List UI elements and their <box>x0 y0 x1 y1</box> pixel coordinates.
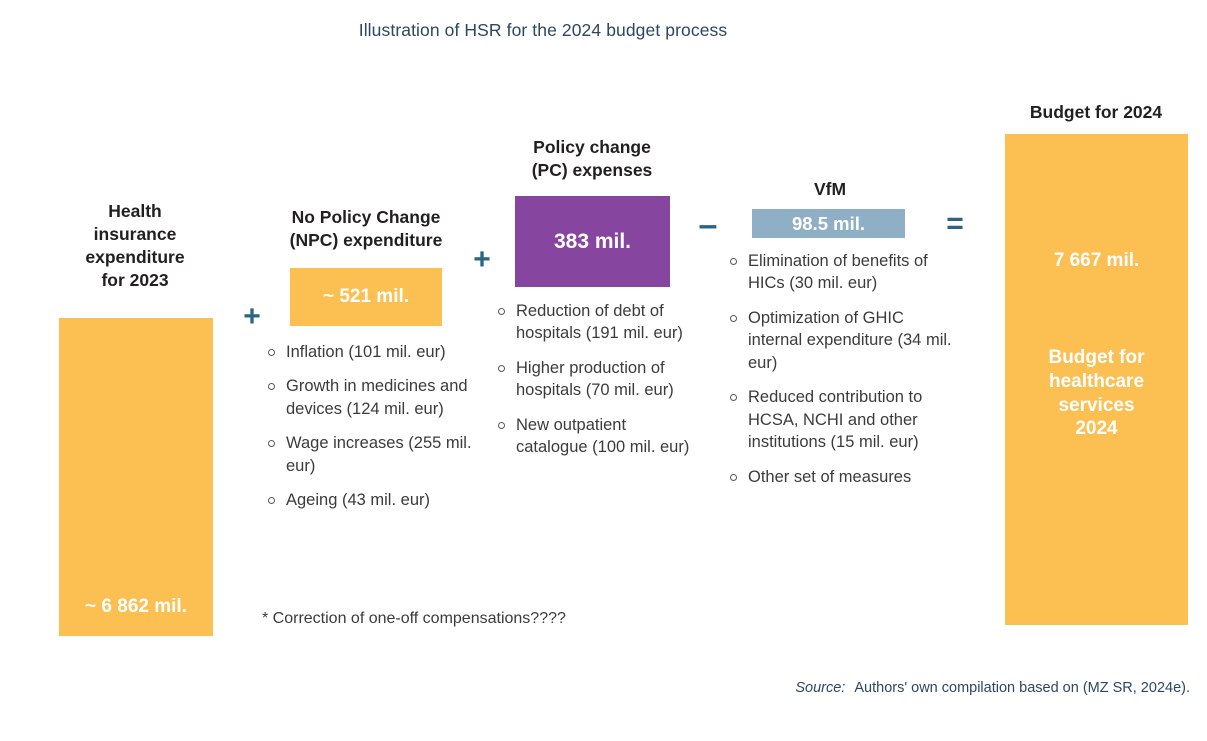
list-item: Reduced contribution to HCSA, NCHI and o… <box>728 386 954 453</box>
heading-line: (PC) expenses <box>496 159 688 182</box>
heading-line: VfM <box>740 178 920 201</box>
source-line: Source: Authors' own compilation based o… <box>600 680 1190 696</box>
heading-line: Health <box>40 200 230 223</box>
pc-value-label: 383 mil. <box>554 230 631 254</box>
pc-bullet-list: Reduction of debt of hospitals (191 mil.… <box>496 300 701 471</box>
vfm-value-box: 98.5 mil. <box>752 209 905 238</box>
heading-line: (NPC) expenditure <box>266 229 466 252</box>
baseline-value-box: ~ 6 862 mil. <box>59 318 213 636</box>
column-heading-baseline: Health insurance expenditure for 2023 <box>40 200 230 292</box>
source-text: Authors' own compilation based on (MZ SR… <box>854 680 1190 696</box>
heading-line: insurance <box>40 223 230 246</box>
list-item: Inflation (101 mil. eur) <box>266 341 481 363</box>
vfm-bullet-list: Elimination of benefits of HICs (30 mil.… <box>728 250 954 500</box>
budget-sublabel-line: healthcare <box>1048 370 1144 394</box>
vfm-value-label: 98.5 mil. <box>792 213 865 235</box>
list-item: Other set of measures <box>728 466 954 488</box>
operator-equals: = <box>939 209 971 239</box>
npc-value-box: ~ 521 mil. <box>290 268 442 326</box>
page-title: Illustration of HSR for the 2024 budget … <box>0 20 1086 41</box>
budget-value-box: 7 667 mil. Budget for healthcare service… <box>1005 134 1188 625</box>
column-heading-npc: No Policy Change (NPC) expenditure <box>266 206 466 252</box>
operator-plus-1: + <box>236 302 268 332</box>
list-item: Wage increases (255 mil. eur) <box>266 432 481 477</box>
waterfall-diagram-canvas: Illustration of HSR for the 2024 budget … <box>0 0 1207 741</box>
list-item: Reduction of debt of hospitals (191 mil.… <box>496 300 701 345</box>
list-item: Elimination of benefits of HICs (30 mil.… <box>728 250 954 295</box>
list-item: Optimization of GHIC internal expenditur… <box>728 307 954 374</box>
list-item: Ageing (43 mil. eur) <box>266 489 481 511</box>
operator-minus: – <box>692 208 724 242</box>
pc-value-box: 383 mil. <box>515 196 670 287</box>
budget-sublabel-line: Budget for <box>1048 346 1144 370</box>
budget-value-label: 7 667 mil. <box>1054 250 1140 272</box>
heading-line: expenditure <box>40 246 230 269</box>
npc-bullet-list: Inflation (101 mil. eur) Growth in medic… <box>266 341 481 524</box>
column-heading-budget: Budget for 2024 <box>1000 101 1192 124</box>
list-item: Higher production of hospitals (70 mil. … <box>496 357 701 402</box>
npc-value-label: ~ 521 mil. <box>323 286 409 308</box>
column-heading-pc: Policy change (PC) expenses <box>496 136 688 182</box>
list-item: Growth in medicines and devices (124 mil… <box>266 375 481 420</box>
heading-line: for 2023 <box>40 269 230 292</box>
budget-sublabel-line: 2024 <box>1048 417 1144 441</box>
budget-sublabel-line: services <box>1048 394 1144 418</box>
heading-line: No Policy Change <box>266 206 466 229</box>
heading-line: Policy change <box>496 136 688 159</box>
column-heading-vfm: VfM <box>740 178 920 201</box>
baseline-value-label: ~ 6 862 mil. <box>85 596 187 618</box>
operator-plus-2: + <box>466 245 498 275</box>
footnote: * Correction of one-off compensations???… <box>262 610 566 628</box>
list-item: New outpatient catalogue (100 mil. eur) <box>496 414 701 459</box>
heading-line: Budget for 2024 <box>1000 101 1192 124</box>
source-label: Source: <box>795 680 845 696</box>
budget-sublabel: Budget for healthcare services 2024 <box>1048 346 1144 441</box>
